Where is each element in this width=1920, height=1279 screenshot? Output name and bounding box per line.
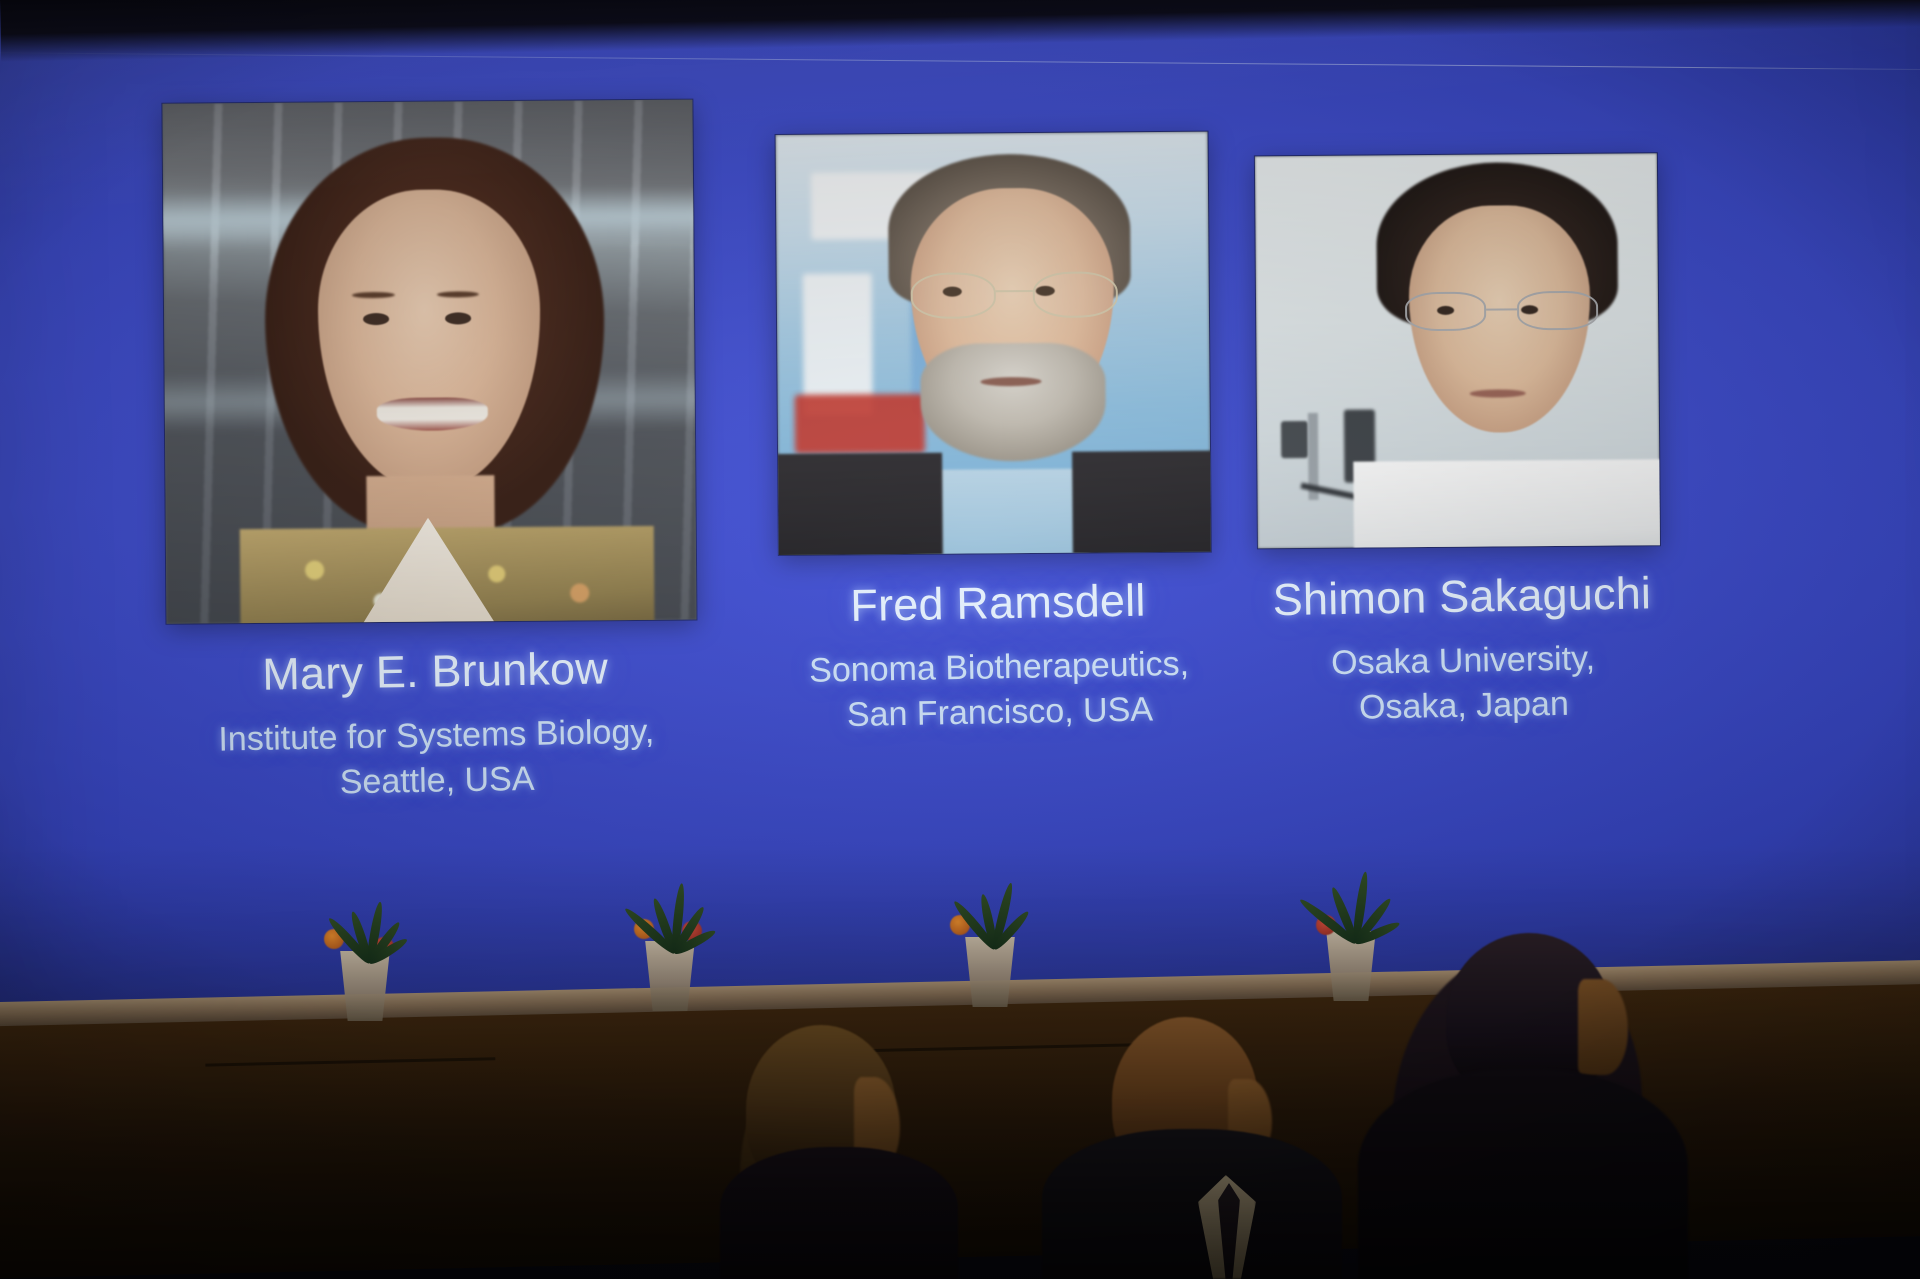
- portrait-mary-brunkow: [162, 100, 696, 624]
- laureate-card-3: Shimon Sakaguchi Osaka University, Osaka…: [1134, 149, 1784, 734]
- projection-screen: The Nobel Prize in Physiology or Medicin…: [0, 0, 1920, 1050]
- ledge-seam-2: [855, 1042, 1185, 1052]
- press-conference-scene: The Nobel Prize in Physiology or Medicin…: [0, 0, 1920, 1279]
- laureate-affiliation-3: Osaka University, Osaka, Japan: [1143, 633, 1785, 734]
- audience-person-left: [746, 999, 986, 1279]
- portrait-shimon-sakaguchi: [1255, 153, 1660, 548]
- laureates-row: Mary E. Brunkow Institute for Systems Bi…: [0, 0, 1920, 1050]
- ledge-seam-1: [205, 1057, 495, 1066]
- laureate-name-3: Shimon Sakaguchi: [1141, 565, 1782, 629]
- caption-3: Shimon Sakaguchi Osaka University, Osaka…: [1141, 565, 1784, 734]
